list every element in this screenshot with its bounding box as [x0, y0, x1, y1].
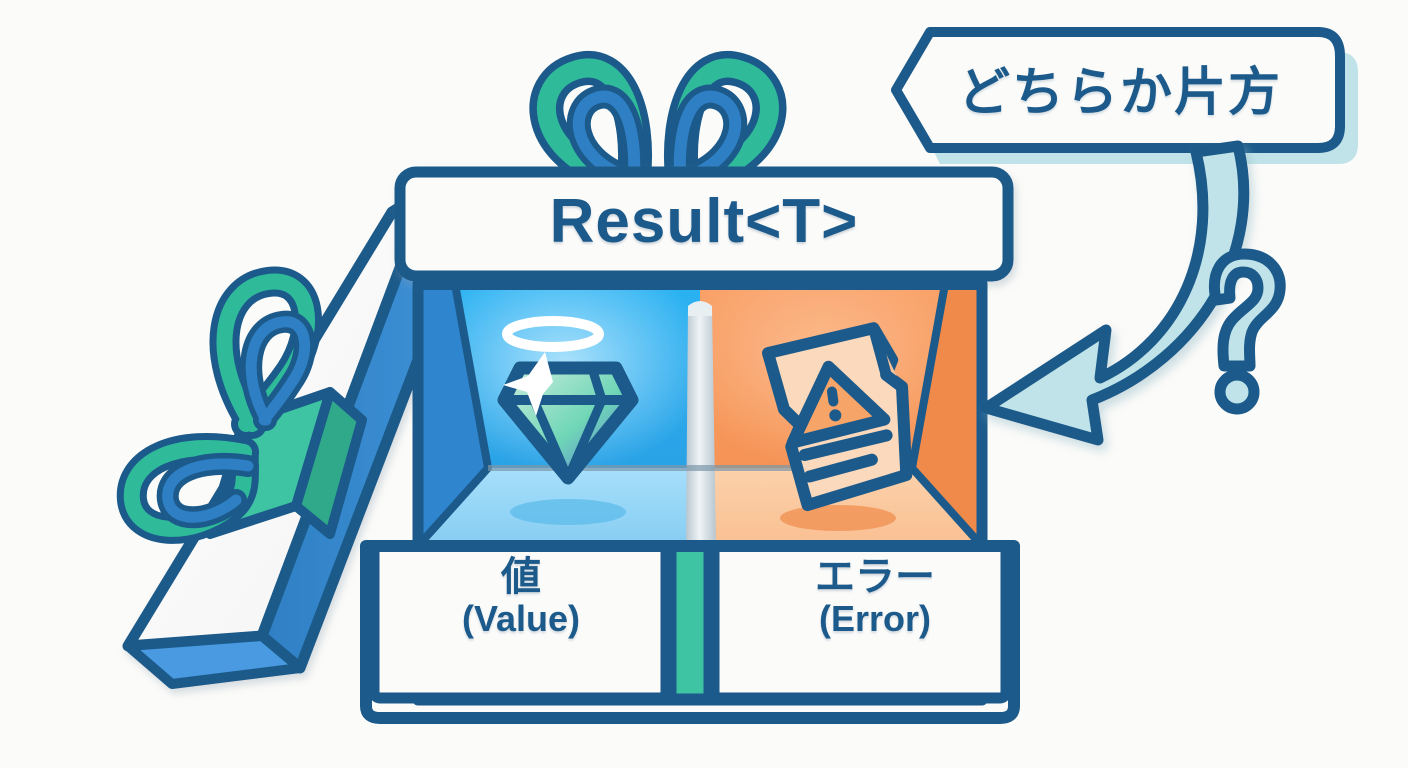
error-label-en: (Error) — [730, 598, 1020, 639]
illustration-canvas: Result<T> どちらか片方 値 (Value) エラー (Error) — [0, 0, 1408, 768]
page-title: Result<T> — [0, 186, 1408, 257]
top-bow — [546, 68, 769, 178]
error-label: エラー (Error) — [730, 556, 1020, 639]
error-label-jp: エラー — [730, 556, 1020, 598]
speech-bubble-label: どちらか片方 — [910, 50, 1330, 125]
value-label-jp: 値 — [376, 556, 666, 598]
doc-shadow — [780, 505, 896, 531]
value-label: 値 (Value) — [376, 556, 666, 639]
gem-shadow — [510, 499, 626, 525]
value-label-en: (Value) — [376, 598, 666, 639]
question-mark-icon — [1214, 254, 1280, 409]
